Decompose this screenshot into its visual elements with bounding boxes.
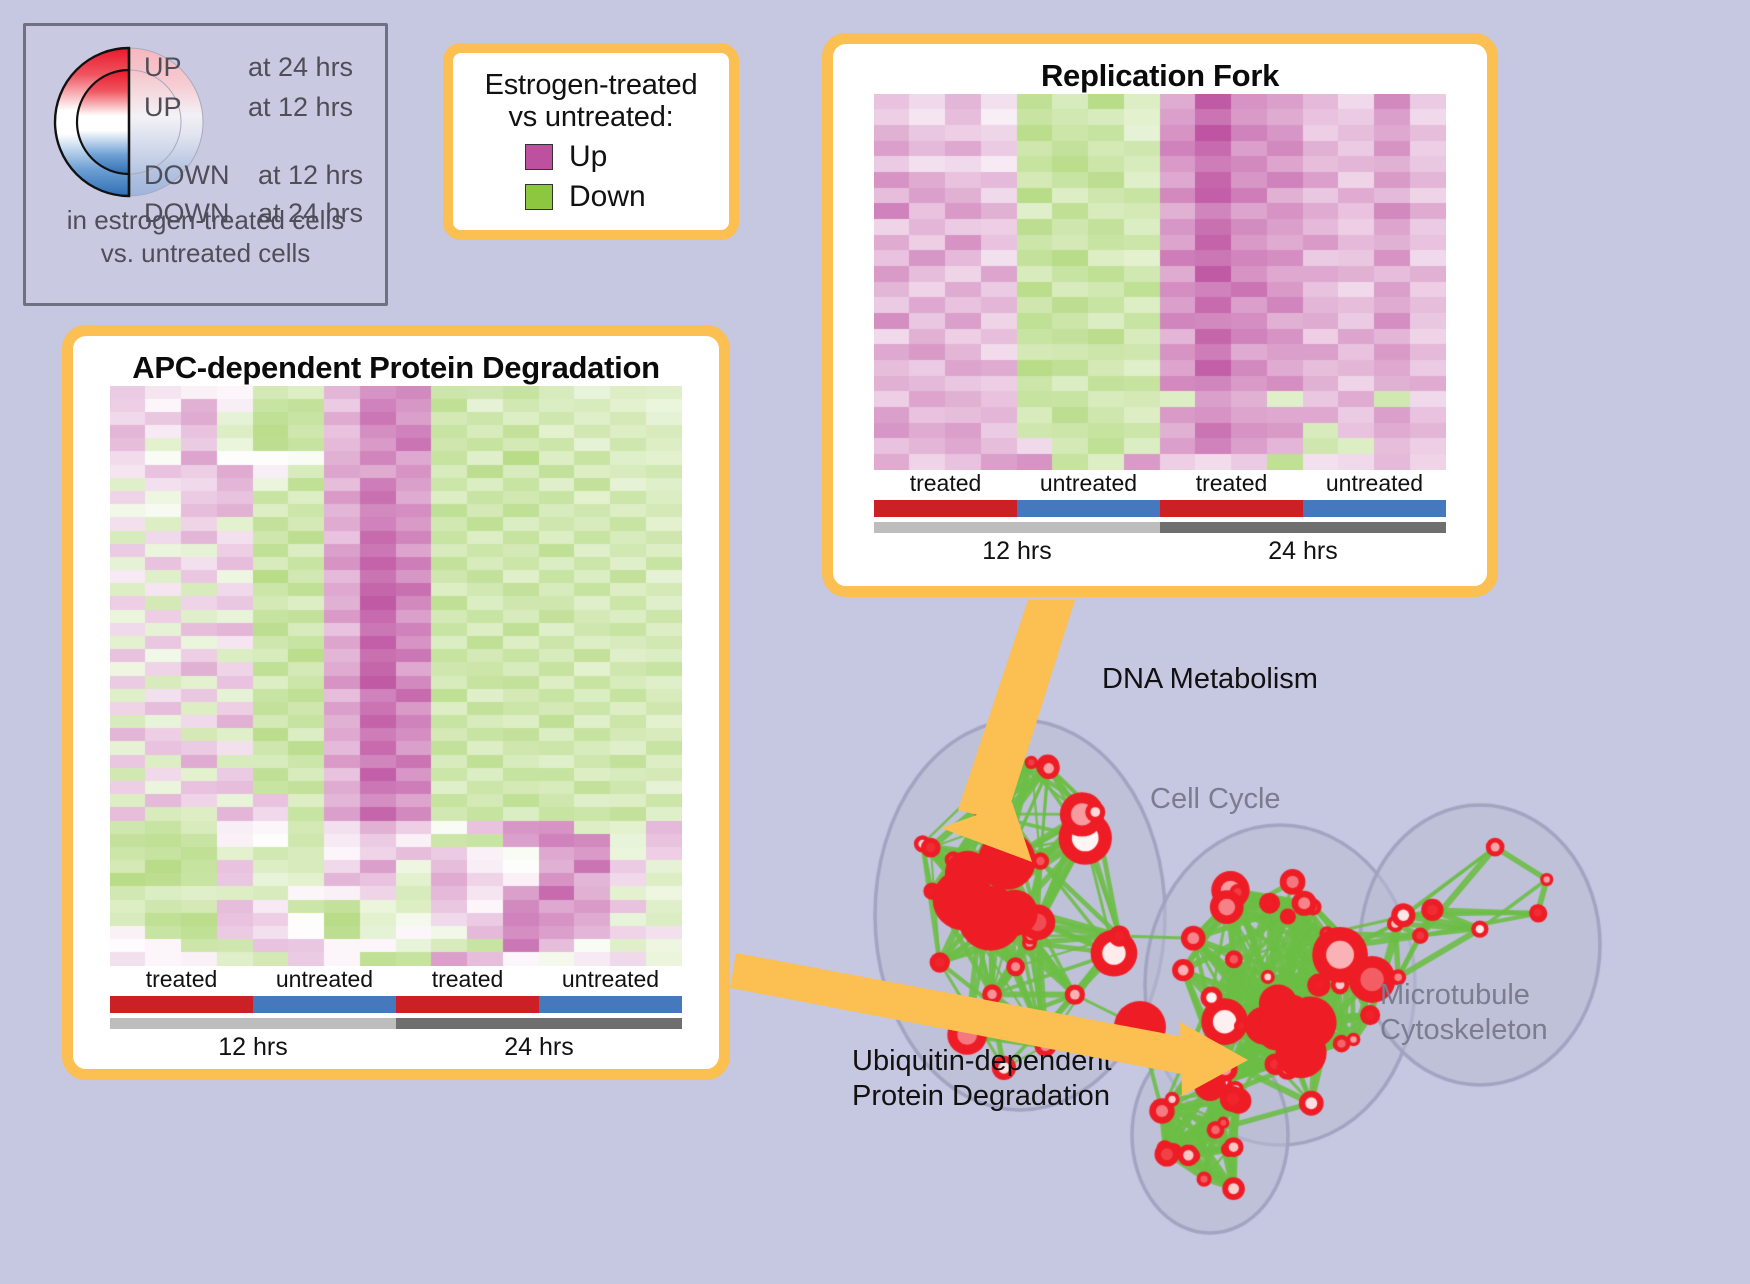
rf-time-labels: 12 hrs 24 hrs [874, 537, 1446, 566]
apc-group-label-0: treated [110, 966, 253, 993]
apc-time-bar-12 [110, 1018, 396, 1029]
rf-time-bar-12 [874, 522, 1160, 533]
apc-bar-treated-12 [110, 996, 253, 1013]
key-item-up: Up [453, 140, 729, 174]
heatmap-apc-degradation [110, 386, 682, 966]
apc-group-labels: treated untreated treated untreated [110, 966, 682, 993]
rf-bar-untreated-24 [1303, 500, 1446, 517]
rf-bar-untreated-12 [1017, 500, 1160, 517]
wheel-row-0-time: at 24 hrs [248, 52, 353, 83]
wheel-row-2-time: at 12 hrs [258, 160, 363, 191]
colorwheel-legend: UP at 24 hrs UP at 12 hrs DOWN at 12 hrs… [23, 23, 388, 306]
rf-time-colorbar [874, 522, 1446, 533]
key-item-down-label: Down [569, 180, 646, 214]
rf-group-label-2: treated [1160, 470, 1303, 497]
rf-time-label-24: 24 hrs [1160, 537, 1446, 566]
panel-apc-title: APC-dependent Protein Degradation [73, 336, 719, 386]
rf-group-label-3: untreated [1303, 470, 1446, 497]
up-swatch-icon [525, 144, 553, 170]
ubiquitin-line2: Protein Degradation [852, 1079, 1112, 1114]
cluster-label-dna-metabolism: DNA Metabolism [1102, 663, 1318, 696]
key-title-line2: vs untreated: [453, 101, 729, 133]
heatmap-replication-fork [874, 94, 1446, 470]
cluster-label-ubiquitin-degradation: Ubiquitin-dependent Protein Degradation [852, 1044, 1112, 1114]
cluster-label-microtubule-cytoskeleton: Microtubule Cytoskeleton [1380, 978, 1548, 1048]
down-swatch-icon [525, 184, 553, 210]
apc-group-label-2: treated [396, 966, 539, 993]
apc-time-labels: 12 hrs 24 hrs [110, 1033, 682, 1062]
rf-time-label-12: 12 hrs [874, 537, 1160, 566]
apc-time-label-24: 24 hrs [396, 1033, 682, 1062]
apc-bar-untreated-24 [539, 996, 682, 1013]
rf-group-colorbar [874, 500, 1446, 517]
apc-time-bar-24 [396, 1018, 682, 1029]
microtubule-line2: Cytoskeleton [1380, 1013, 1548, 1048]
rf-bar-treated-24 [1160, 500, 1303, 517]
apc-group-label-3: untreated [539, 966, 682, 993]
apc-time-label-12: 12 hrs [110, 1033, 396, 1062]
network-canvas [780, 615, 1750, 1279]
apc-group-colorbar [110, 996, 682, 1013]
rf-group-label-1: untreated [1017, 470, 1160, 497]
key-item-up-label: Up [569, 140, 607, 174]
key-title-line1: Estrogen-treated [453, 69, 729, 101]
updown-key-legend: Estrogen-treated vs untreated: Up Down [443, 43, 739, 240]
apc-time-colorbar [110, 1018, 682, 1029]
wheel-row-1-direction: UP [144, 92, 182, 123]
microtubule-line1: Microtubule [1380, 978, 1548, 1013]
colorwheel-caption-line1: in estrogen-treated cells [26, 204, 385, 237]
rf-group-labels: treated untreated treated untreated [874, 470, 1446, 497]
rf-group-label-0: treated [874, 470, 1017, 497]
wheel-row-0-direction: UP [144, 52, 182, 83]
cluster-label-cell-cycle: Cell Cycle [1150, 783, 1281, 816]
apc-bar-untreated-12 [253, 996, 396, 1013]
panel-replication-fork-title: Replication Fork [833, 44, 1487, 94]
rf-time-bar-24 [1160, 522, 1446, 533]
key-title: Estrogen-treated vs untreated: [453, 53, 729, 134]
network-diagram: DNA Metabolism Cell Cycle [780, 615, 1750, 1279]
apc-bar-treated-24 [396, 996, 539, 1013]
colorwheel-caption-line2: vs. untreated cells [26, 237, 385, 270]
colorwheel-caption: in estrogen-treated cells vs. untreated … [26, 204, 385, 269]
wheel-row-1-time: at 12 hrs [248, 92, 353, 123]
apc-group-label-1: untreated [253, 966, 396, 993]
axis-replication-fork: treated untreated treated untreated 12 h… [874, 470, 1446, 566]
ubiquitin-line1: Ubiquitin-dependent [852, 1044, 1112, 1079]
figure-root: UP at 24 hrs UP at 12 hrs DOWN at 12 hrs… [0, 0, 1750, 1279]
rf-bar-treated-12 [874, 500, 1017, 517]
axis-apc: treated untreated treated untreated 12 h… [110, 966, 682, 1062]
key-item-down: Down [453, 180, 729, 214]
panel-replication-fork: Replication Fork treated untreated treat… [822, 33, 1498, 597]
wheel-row-2-direction: DOWN [144, 160, 229, 191]
panel-apc-degradation: APC-dependent Protein Degradation treate… [62, 325, 730, 1080]
